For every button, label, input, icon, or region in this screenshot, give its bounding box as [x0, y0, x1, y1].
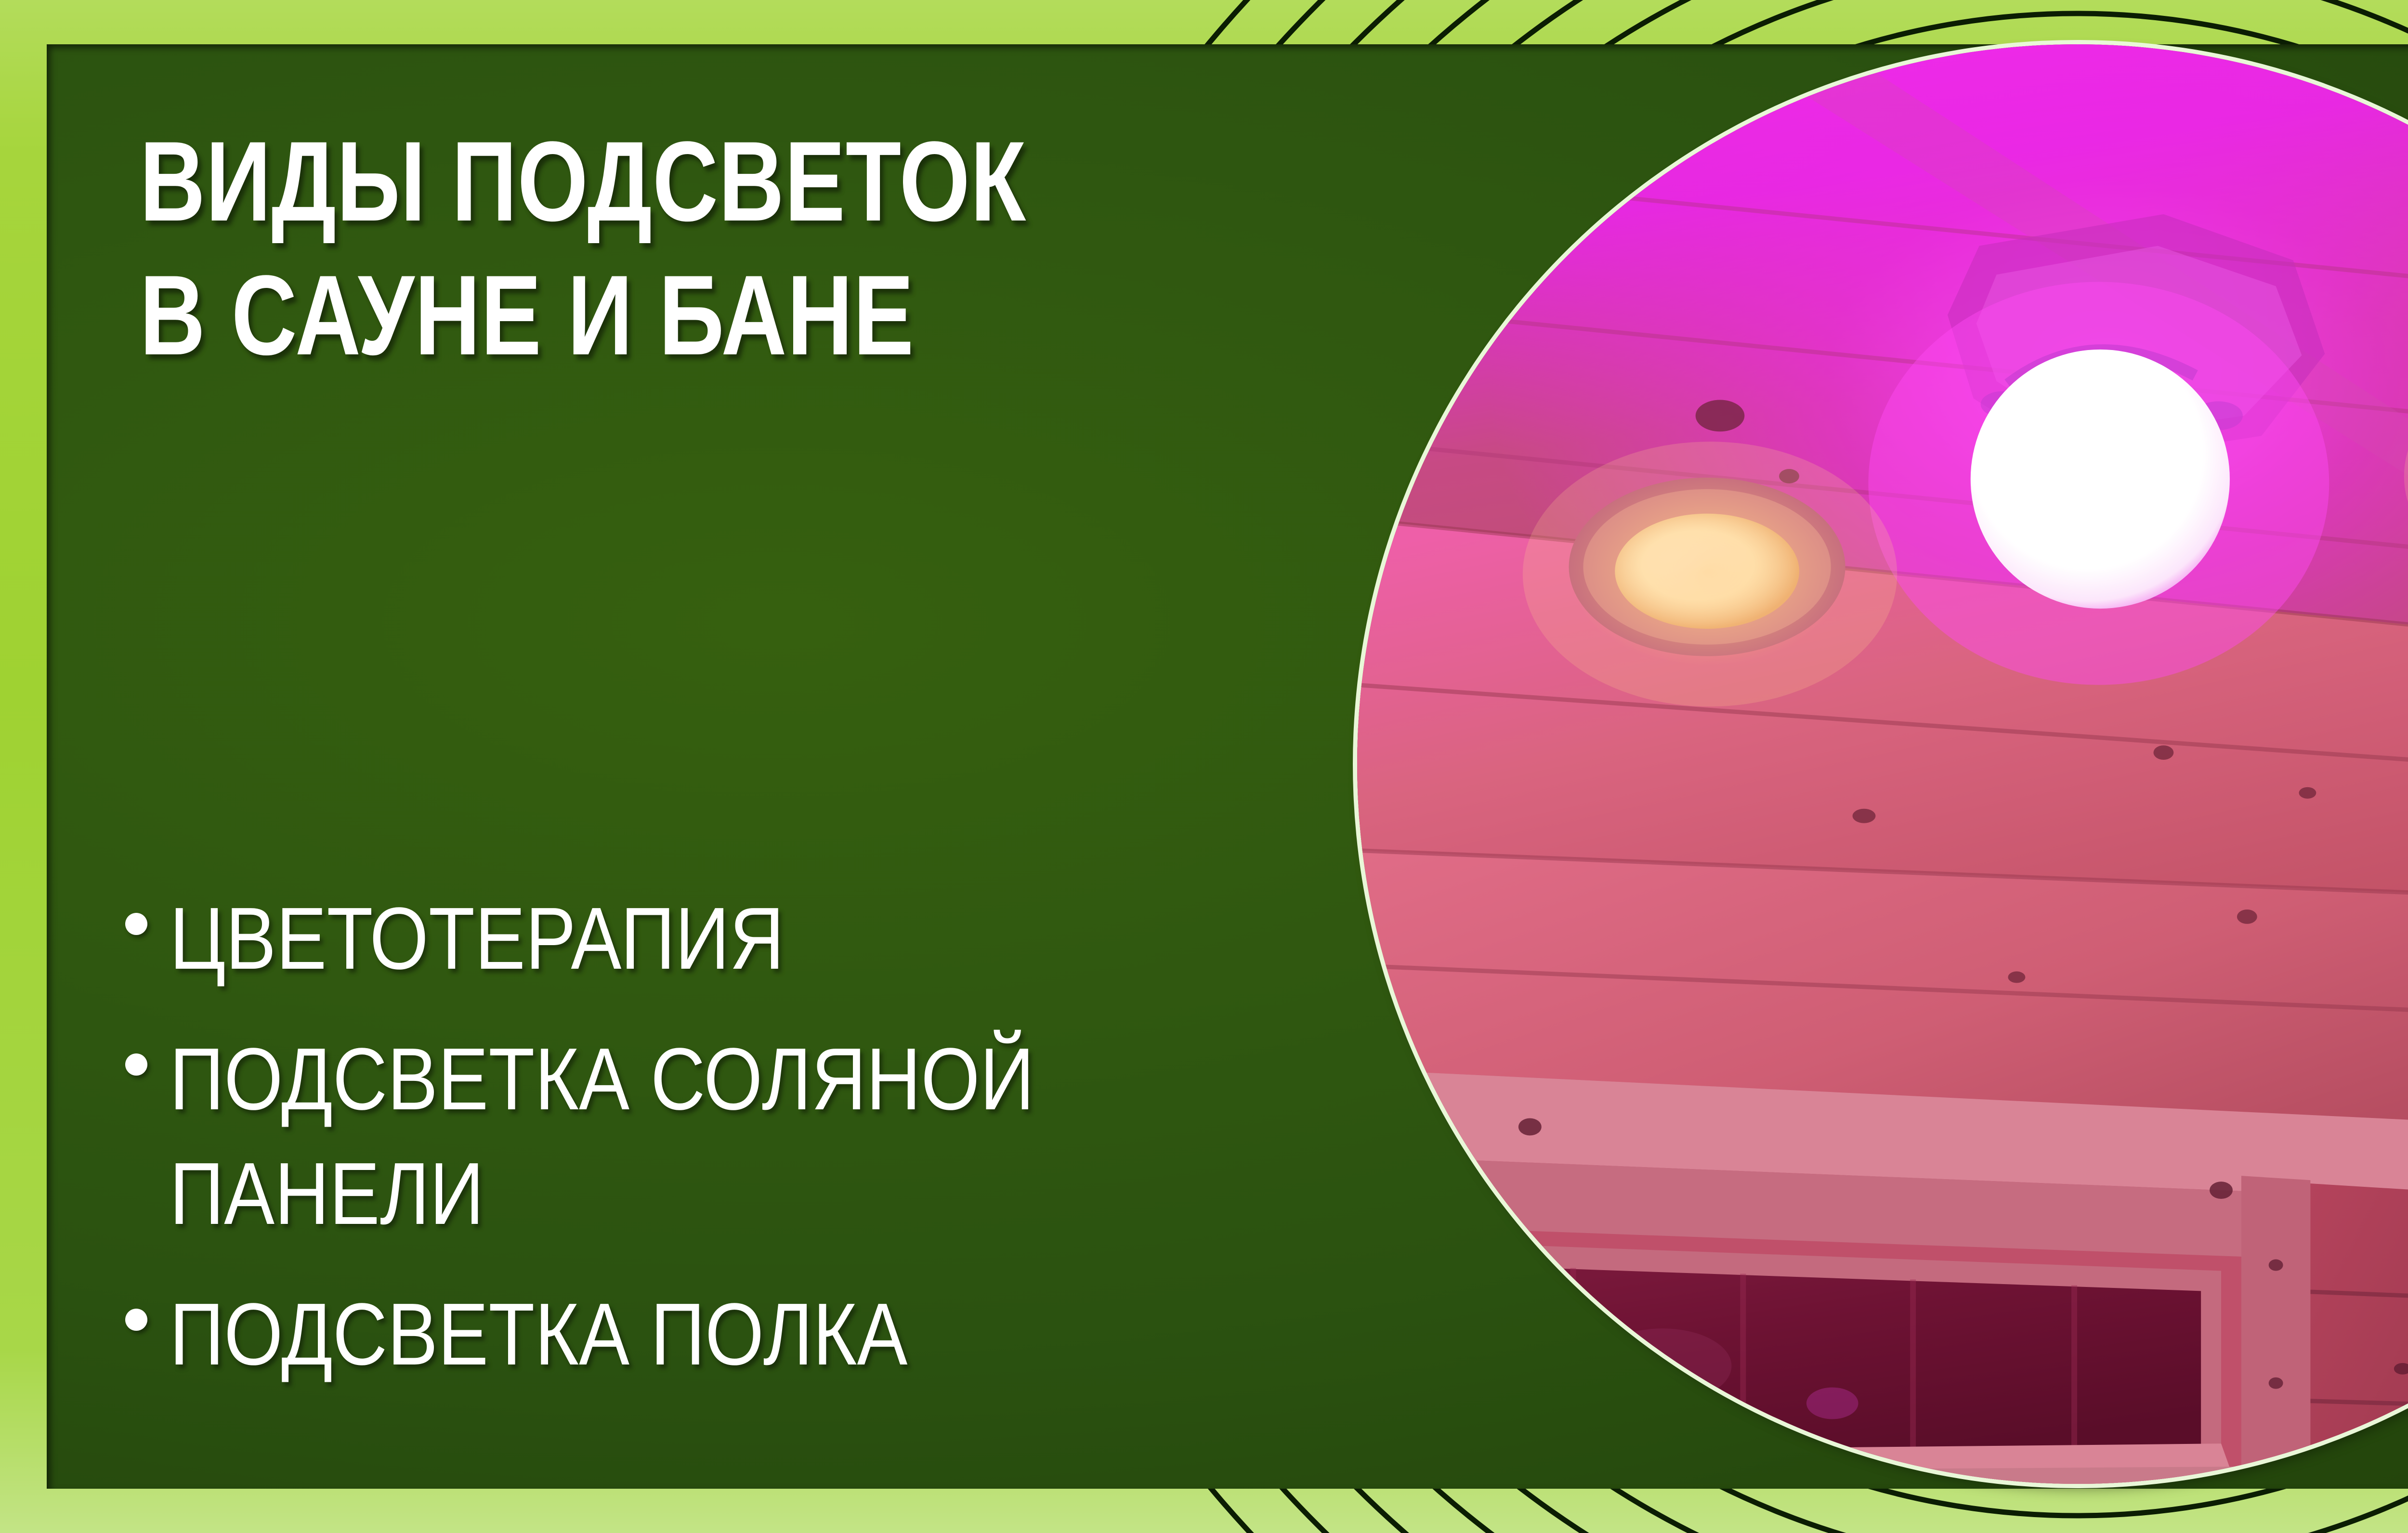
list-item-label: ПОДСВЕТКА СОЛЯНОЙ ПАНЕЛИ [170, 1022, 1034, 1251]
feature-bullet-list: ЦВЕТОТЕРАПИЯ ПОДСВЕТКА СОЛЯНОЙ ПАНЕЛИ ПО… [125, 881, 1257, 1417]
title-line-1: ВИДЫ ПОДСВЕТОК [140, 115, 1141, 248]
list-item: ЦВЕТОТЕРАПИЯ [125, 881, 1257, 996]
list-item-label: ЦВЕТОТЕРАПИЯ [170, 881, 784, 996]
bullet-dot-icon [125, 1309, 147, 1331]
title-line-2: В САУНЕ И БАНЕ [140, 248, 1141, 382]
page-title: ВИДЫ ПОДСВЕТОК В САУНЕ И БАНЕ [140, 115, 1141, 383]
list-item: ПОДСВЕТКА СОЛЯНОЙ ПАНЕЛИ [125, 1022, 1257, 1251]
list-item: ПОДСВЕТКА ПОЛКА [125, 1277, 1257, 1391]
bullet-dot-icon [125, 913, 147, 935]
list-item-label: ПОДСВЕТКА ПОЛКА [170, 1277, 907, 1391]
poster-canvas: ВИДЫ ПОДСВЕТОК В САУНЕ И БАНЕ ЦВЕТОТЕРАП… [0, 0, 2408, 1533]
bullet-dot-icon [125, 1053, 147, 1076]
